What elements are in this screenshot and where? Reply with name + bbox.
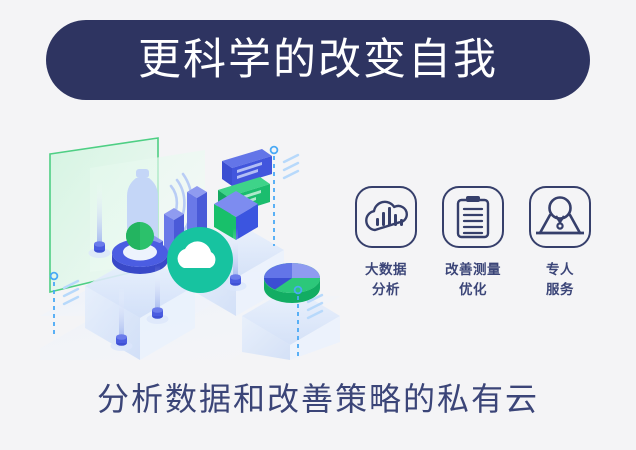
dashed-marker [271, 147, 298, 246]
cloud-badge [167, 227, 233, 293]
pie-chart-3d [264, 263, 320, 303]
feature-label-line1: 改善测量 [445, 261, 501, 281]
feature-item-measurement[interactable]: 改善测量 优化 [435, 186, 511, 300]
isometric-illustration [40, 120, 340, 360]
feature-label: 大数据 分析 [365, 261, 407, 300]
feature-label: 改善测量 优化 [445, 261, 501, 300]
feature-label-line2: 服务 [546, 281, 574, 301]
feature-label-line1: 大数据 [365, 261, 407, 281]
page-tagline: 分析数据和改善策略的私有云 [0, 383, 636, 415]
clipboard-icon [442, 186, 504, 248]
service-person-icon [529, 186, 591, 248]
banner-title: 更科学的改变自我 [138, 39, 498, 82]
feature-item-service[interactable]: 专人 服务 [522, 186, 598, 300]
poster-canvas: 更科学的改变自我 [0, 0, 636, 450]
feature-item-big-data[interactable]: 大数据 分析 [348, 186, 424, 300]
feature-label-line2: 优化 [445, 281, 501, 301]
feature-list: 大数据 分析 改善测量 [348, 186, 598, 336]
feature-label-line1: 专人 [546, 261, 574, 281]
feature-label-line2: 分析 [365, 281, 407, 301]
header-banner: 更科学的改变自我 [46, 20, 590, 100]
cloud-bar-chart-icon [355, 186, 417, 248]
feature-label: 专人 服务 [546, 261, 574, 300]
